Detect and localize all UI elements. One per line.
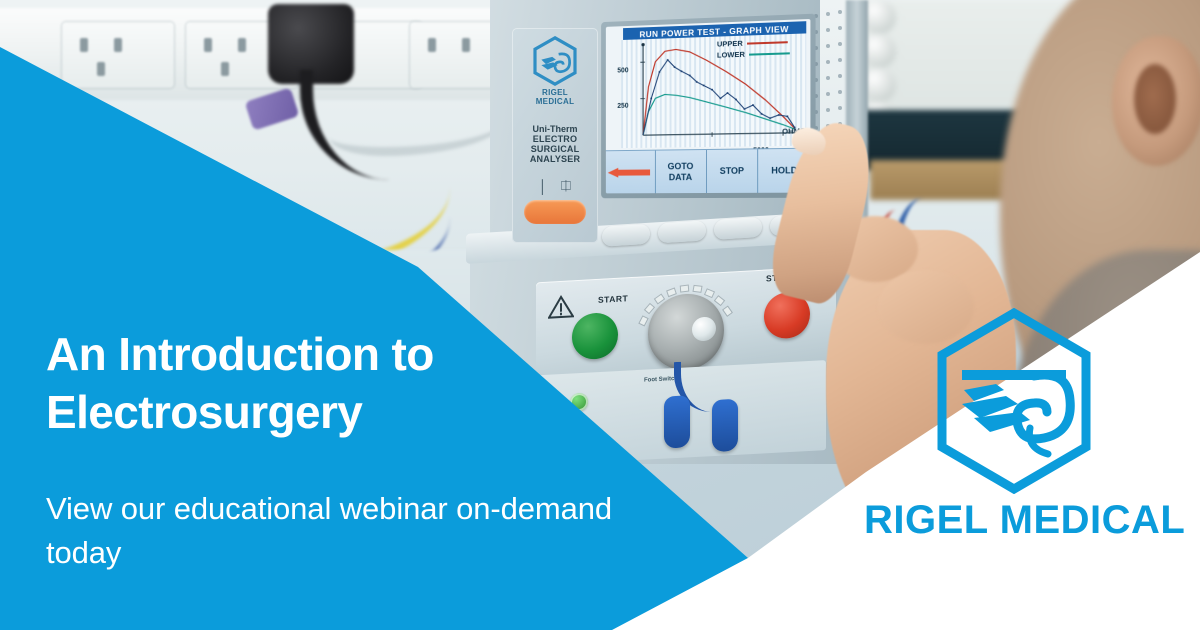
- softkey-goto-data-line2: DATA: [669, 172, 692, 183]
- start-button-label: START: [598, 293, 628, 305]
- arrow-left-icon: [608, 167, 652, 177]
- softkey-goto-data-line1: GOTO: [668, 161, 694, 172]
- legend-swatch-lower: [749, 52, 790, 55]
- device-model-text: Uni-Therm ELECTRO SURGICAL ANALYSER: [512, 124, 598, 164]
- rigel-hexagon-logo-icon: [530, 36, 580, 86]
- device-power-button[interactable]: [524, 200, 586, 224]
- y-tick-250: 250: [617, 103, 628, 110]
- physical-softkey-1[interactable]: [602, 224, 650, 247]
- wall-socket: [62, 22, 174, 88]
- rigel-hexagon-hand-wave-logo-icon: [934, 308, 1094, 494]
- softkey-stop-label: STOP: [720, 166, 744, 177]
- knob-tick-marks: [638, 281, 734, 334]
- blue-lead-plug-1[interactable]: [664, 395, 690, 448]
- physical-softkey-3[interactable]: [714, 217, 762, 240]
- legend-swatch-upper: [747, 41, 788, 44]
- technician-ear-inner: [1134, 64, 1176, 134]
- graph-legend: UPPER LOWER: [717, 36, 804, 61]
- page-subtitle: View our educational webinar on-demand t…: [46, 487, 666, 575]
- warning-triangle-icon: [548, 294, 574, 317]
- brand-wordmark: RIGEL MEDICAL: [864, 498, 1164, 543]
- softkey-goto-data[interactable]: GOTO DATA: [656, 150, 707, 193]
- physical-softkey-2[interactable]: [658, 220, 706, 243]
- legend-label-lower: LOWER: [717, 50, 745, 60]
- y-axis-label: WATTS: [606, 119, 608, 145]
- blue-lead-plug-2[interactable]: [712, 399, 738, 452]
- power-symbol-icon: │⎅: [532, 178, 578, 194]
- y-tick-500: 500: [617, 67, 628, 74]
- device-branding-panel: RIGEL MEDICAL Uni-Therm ELECTRO SURGICAL…: [512, 28, 598, 243]
- brand-logo-lockup: RIGEL MEDICAL: [864, 308, 1164, 543]
- foot-switch-label: Foot Switch: [644, 376, 678, 384]
- legend-label-upper: UPPER: [717, 39, 743, 49]
- softkey-stop[interactable]: STOP: [706, 149, 758, 193]
- softkey-back[interactable]: [606, 151, 656, 194]
- promo-banner: RIGEL MEDICAL Uni-Therm ELECTRO SURGICAL…: [0, 0, 1200, 630]
- page-title: An Introduction to Electrosurgery: [46, 325, 606, 441]
- device-brand-text: RIGEL MEDICAL: [512, 88, 598, 106]
